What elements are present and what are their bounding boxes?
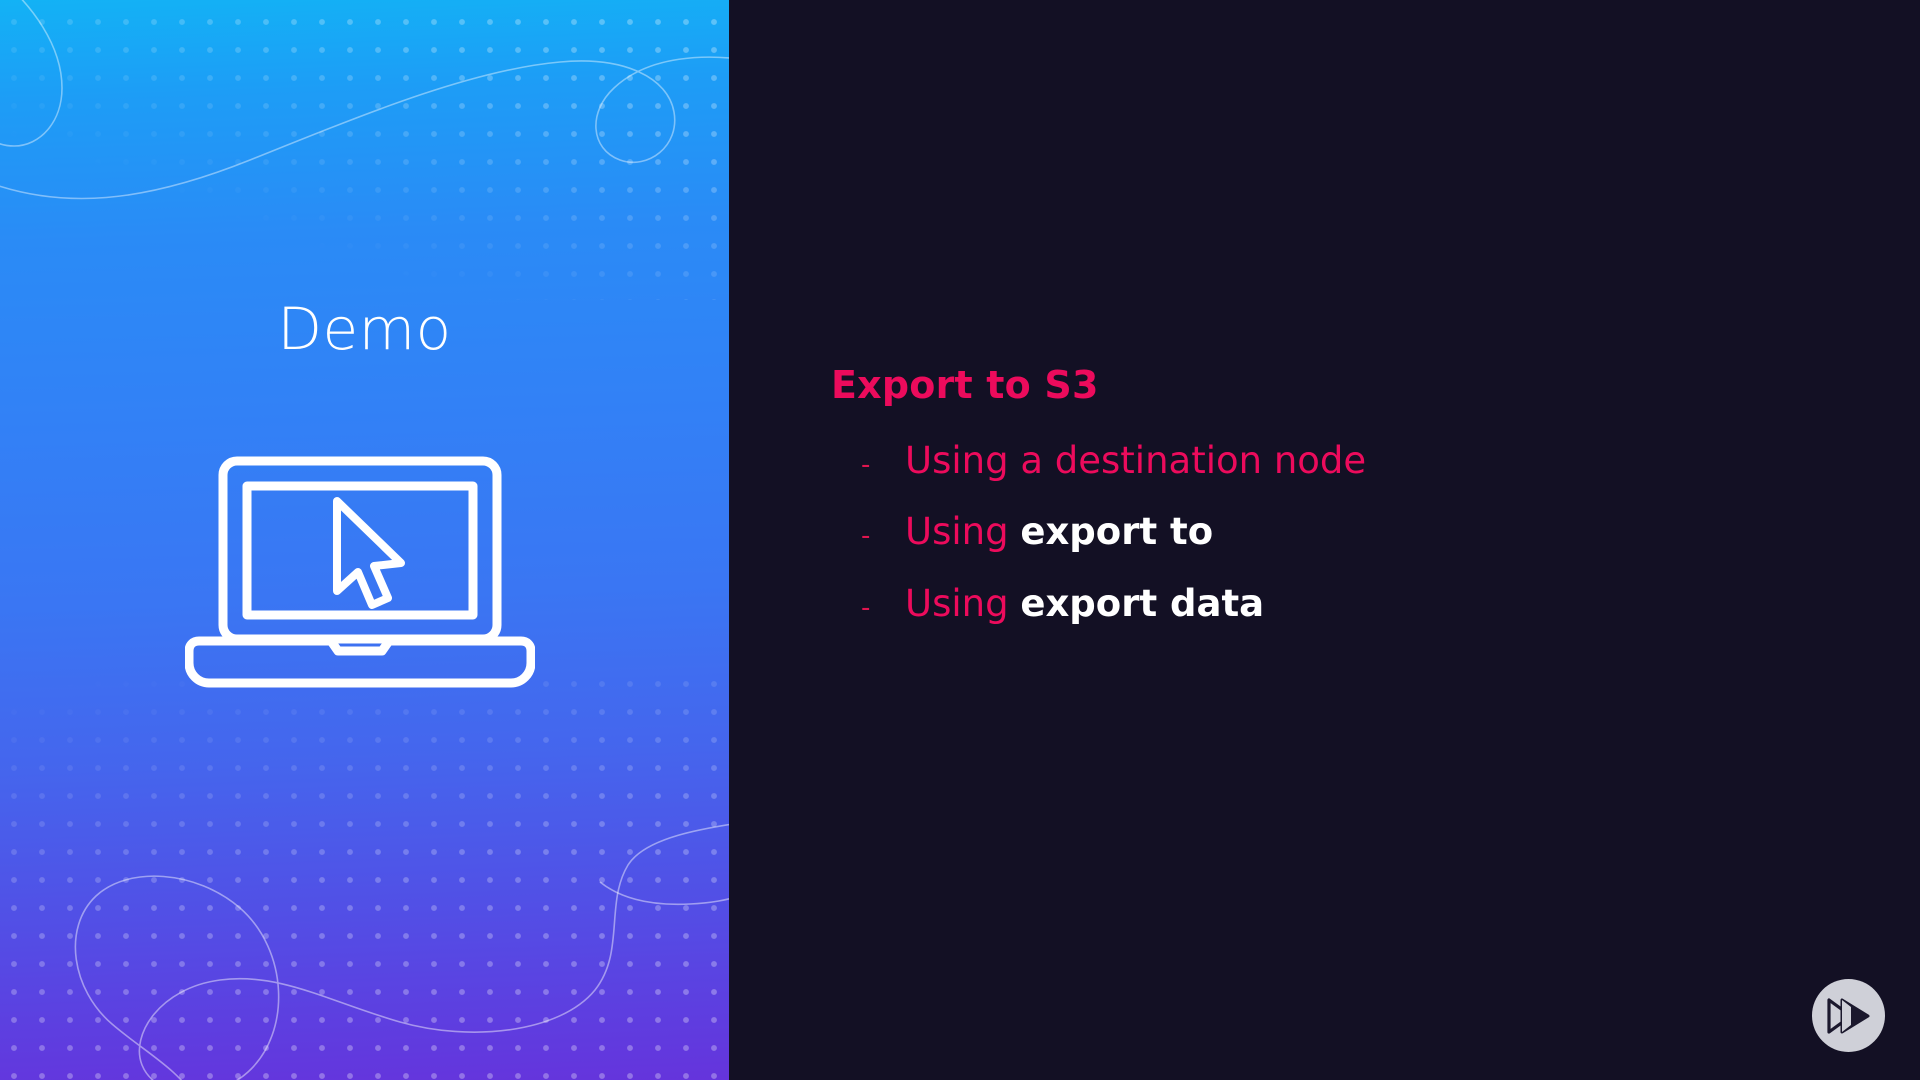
bullet-text: Using a destination node [905, 441, 1366, 482]
swirl-line-bottom-icon [0, 660, 729, 1080]
bullet-text-code: export data [1020, 582, 1264, 625]
list-item: - Using a destination node [861, 441, 1851, 482]
bullet-dash-icon: - [861, 595, 905, 621]
left-visual-panel: Demo [0, 0, 729, 1080]
swirl-line-top-icon [0, 0, 729, 300]
bullet-text-plain: Using [905, 510, 1020, 553]
list-item: - Using export to [861, 512, 1851, 553]
content-block: Export to S3 - Using a destination node … [831, 365, 1851, 656]
play-forward-logo-icon [1826, 996, 1872, 1036]
section-heading: Export to S3 [831, 365, 1851, 407]
bullet-text: Using export to [905, 512, 1213, 553]
right-content-panel: Export to S3 - Using a destination node … [729, 0, 1920, 1080]
bullet-text-plain: Using a destination node [905, 439, 1366, 482]
laptop-with-cursor-icon [185, 455, 535, 695]
bullet-text: Using export data [905, 584, 1264, 625]
bullet-text-code: export to [1020, 510, 1213, 553]
slide-root: Demo Export to S3 - Using a destination … [0, 0, 1920, 1080]
bullet-dash-icon: - [861, 523, 905, 549]
demo-title: Demo [0, 300, 729, 358]
bullet-text-plain: Using [905, 582, 1020, 625]
play-forward-logo[interactable] [1812, 979, 1885, 1052]
list-item: - Using export data [861, 584, 1851, 625]
bullet-dash-icon: - [861, 452, 905, 478]
